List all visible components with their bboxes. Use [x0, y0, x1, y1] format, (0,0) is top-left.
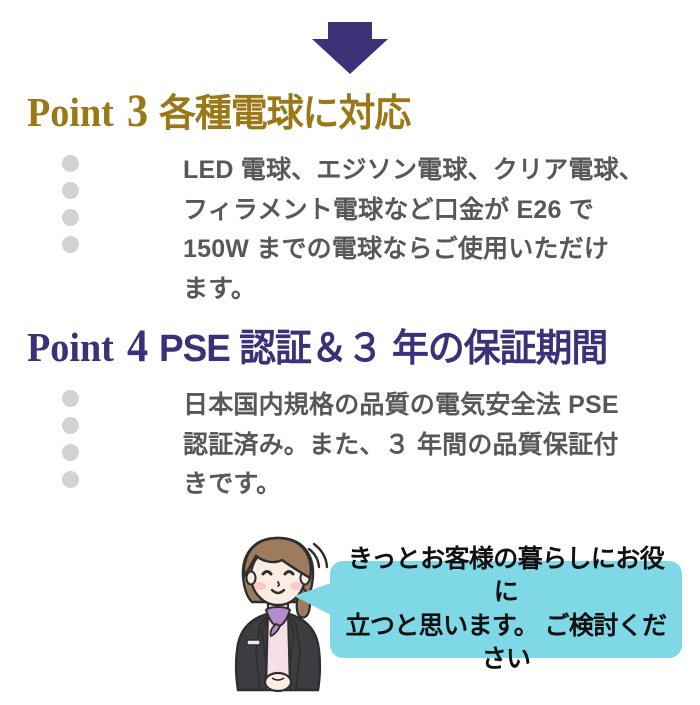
- closing-message-section: きっとお客様の暮らしにお役に 立つと思います。 ご検討ください: [0, 528, 700, 700]
- bullet-dot: [62, 417, 79, 434]
- point-label: Point: [27, 327, 114, 368]
- point-title: PSE 認証＆３ 年の保証期間: [159, 330, 607, 368]
- point-number: 3: [127, 88, 148, 135]
- bullet-dot: [62, 471, 79, 488]
- point-body-text: LED 電球、エジソン電球、クリア電球、 フィラメント電球など口金が E26 で…: [0, 151, 700, 309]
- bullet-dot: [62, 390, 79, 407]
- point-heading-3: Point 3 各種電球に対応: [0, 88, 700, 135]
- bullet-dot-column: [62, 390, 79, 488]
- speech-bubble-text: きっとお客様の暮らしにお役に 立つと思います。 ご検討ください: [330, 543, 682, 676]
- speech-bubble: きっとお客様の暮らしにお役に 立つと思います。 ご検討ください: [330, 561, 682, 658]
- point-section-4: Point 4 PSE 認証＆３ 年の保証期間 日本国内規格の品質の電気安全法 …: [0, 323, 700, 505]
- bullet-dot: [62, 236, 79, 253]
- bullet-dot-column: [62, 155, 79, 253]
- point-body-text: 日本国内規格の品質の電気安全法 PSE 認証済み。また、３ 年間の品質保証付 き…: [0, 386, 700, 505]
- bullet-dot: [62, 155, 79, 172]
- bullet-dot: [62, 444, 79, 461]
- point-body-4: 日本国内規格の品質の電気安全法 PSE 認証済み。また、３ 年間の品質保証付 き…: [0, 386, 700, 505]
- bullet-dot: [62, 209, 79, 226]
- speech-bubble-tail: [294, 583, 331, 615]
- arrow-head: [312, 39, 388, 74]
- point-title: 各種電球に対応: [159, 95, 410, 133]
- point-number: 4: [127, 323, 148, 370]
- point-section-3: Point 3 各種電球に対応 LED 電球、エジソン電球、クリア電球、 フィラ…: [0, 88, 700, 309]
- point-body-3: LED 電球、エジソン電球、クリア電球、 フィラメント電球など口金が E26 で…: [0, 151, 700, 309]
- point-label: Point: [27, 92, 114, 133]
- arrow-stem: [328, 22, 372, 39]
- female-operator-icon: [218, 532, 338, 700]
- down-arrow-icon: [0, 22, 700, 74]
- point-heading-4: Point 4 PSE 認証＆３ 年の保証期間: [0, 323, 700, 370]
- bullet-dot: [62, 182, 79, 199]
